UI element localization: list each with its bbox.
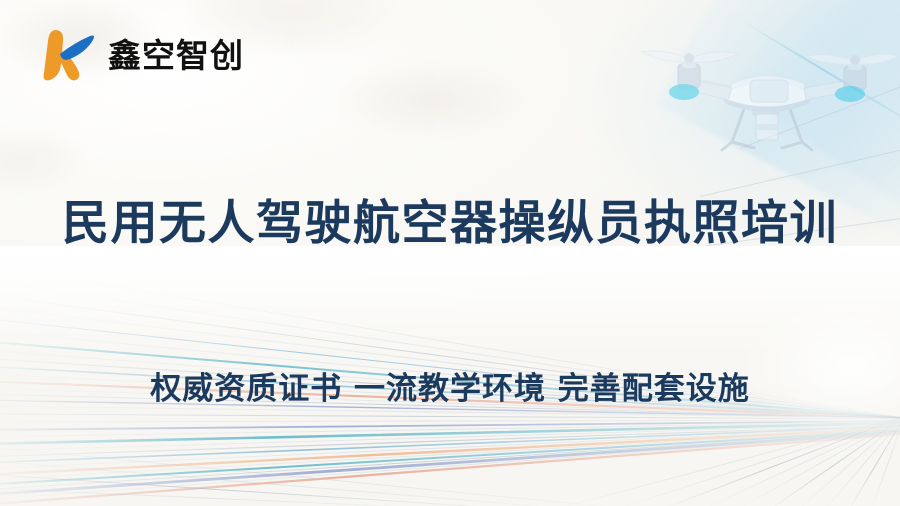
- quadcopter-drone-illustration: [636, 24, 898, 176]
- page-title: 民用无人驾驶航空器操纵员执照培训: [0, 196, 900, 251]
- stylized-k-wing-icon: [36, 24, 98, 86]
- brand-name: 鑫空智创: [108, 39, 244, 72]
- poster-canvas: 鑫空智创 民用无人驾驶航空器操纵员执照培训 权威资质证书 一流教学环境 完善配套…: [0, 0, 900, 506]
- page-subtitle: 权威资质证书 一流教学环境 完善配套设施: [0, 371, 900, 408]
- brand-logo[interactable]: 鑫空智创: [36, 24, 244, 86]
